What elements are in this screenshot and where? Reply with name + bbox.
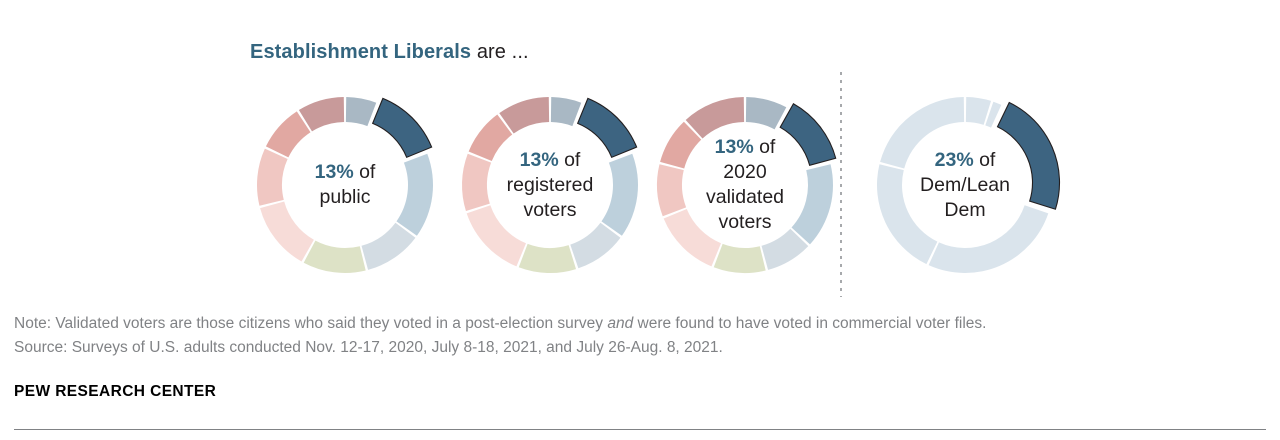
donut-slice-segment-3: [601, 154, 638, 236]
donut-svg: [855, 72, 1075, 298]
vertical-dotted-divider: [840, 72, 842, 297]
title-highlight: Establishment Liberals: [250, 41, 471, 63]
donut-slice-segment-6: [664, 209, 721, 266]
donut-chart-public: 13% ofpublic: [235, 72, 455, 298]
donut-slice-segment-6: [260, 202, 314, 262]
donut-slice-highlight: [997, 102, 1059, 209]
donut-slice-segment-6: [880, 97, 964, 168]
donut-chart-dem-lean-dem: 23% ofDem/LeanDem: [855, 72, 1075, 298]
donut-slice-segment-5: [877, 164, 937, 264]
donut-slice-establishment-liberals: [997, 102, 1059, 209]
donut-chart-validated-voters-2020: 13% of2020validatedvoters: [635, 72, 855, 298]
donut-slice-segment-7: [657, 164, 686, 216]
footer: Note: Validated voters are those citizen…: [14, 312, 1270, 360]
donut-slice-segment-5: [304, 241, 366, 273]
donut-slice-highlight: [578, 98, 637, 157]
donut-chart-group: 13% ofpublic 13% ofregisteredvoters 13% …: [0, 72, 1280, 298]
donut-slice-highlight: [373, 98, 432, 157]
donut-slice-segment-4: [570, 223, 620, 269]
donut-slice-segment-7: [257, 149, 288, 206]
donut-slice-segment-4: [929, 205, 1049, 273]
note-text: Note: Validated voters are those citizen…: [14, 312, 1270, 336]
page-title: Establishment Liberals are ...: [250, 41, 529, 64]
donut-slice-segment-3: [792, 164, 833, 244]
donut-svg: [235, 72, 455, 298]
donut-slice-segment-5: [519, 244, 576, 273]
donut-slice-segment-3: [396, 154, 433, 236]
donut-svg: [440, 72, 660, 298]
donut-slice-segment-8: [266, 111, 311, 157]
note-emphasis: and: [607, 315, 633, 332]
title-rest: are ...: [471, 41, 529, 63]
donut-chart-registered-voters: 13% ofregisteredvoters: [440, 72, 660, 298]
donut-slice-highlight: [780, 104, 836, 165]
donut-slice-segment-9: [686, 97, 744, 138]
donut-slice-segment-7: [462, 154, 491, 211]
donut-slice-segment-4: [362, 223, 416, 270]
footer-rule: [14, 429, 1266, 430]
source-text: Source: Surveys of U.S. adults conducted…: [14, 336, 1270, 360]
donut-svg: [635, 72, 855, 298]
donut-slice-segment-5: [714, 244, 766, 273]
donut-slice-segment-6: [467, 205, 526, 266]
pew-research-center-brand: PEW RESEARCH CENTER: [14, 383, 216, 401]
